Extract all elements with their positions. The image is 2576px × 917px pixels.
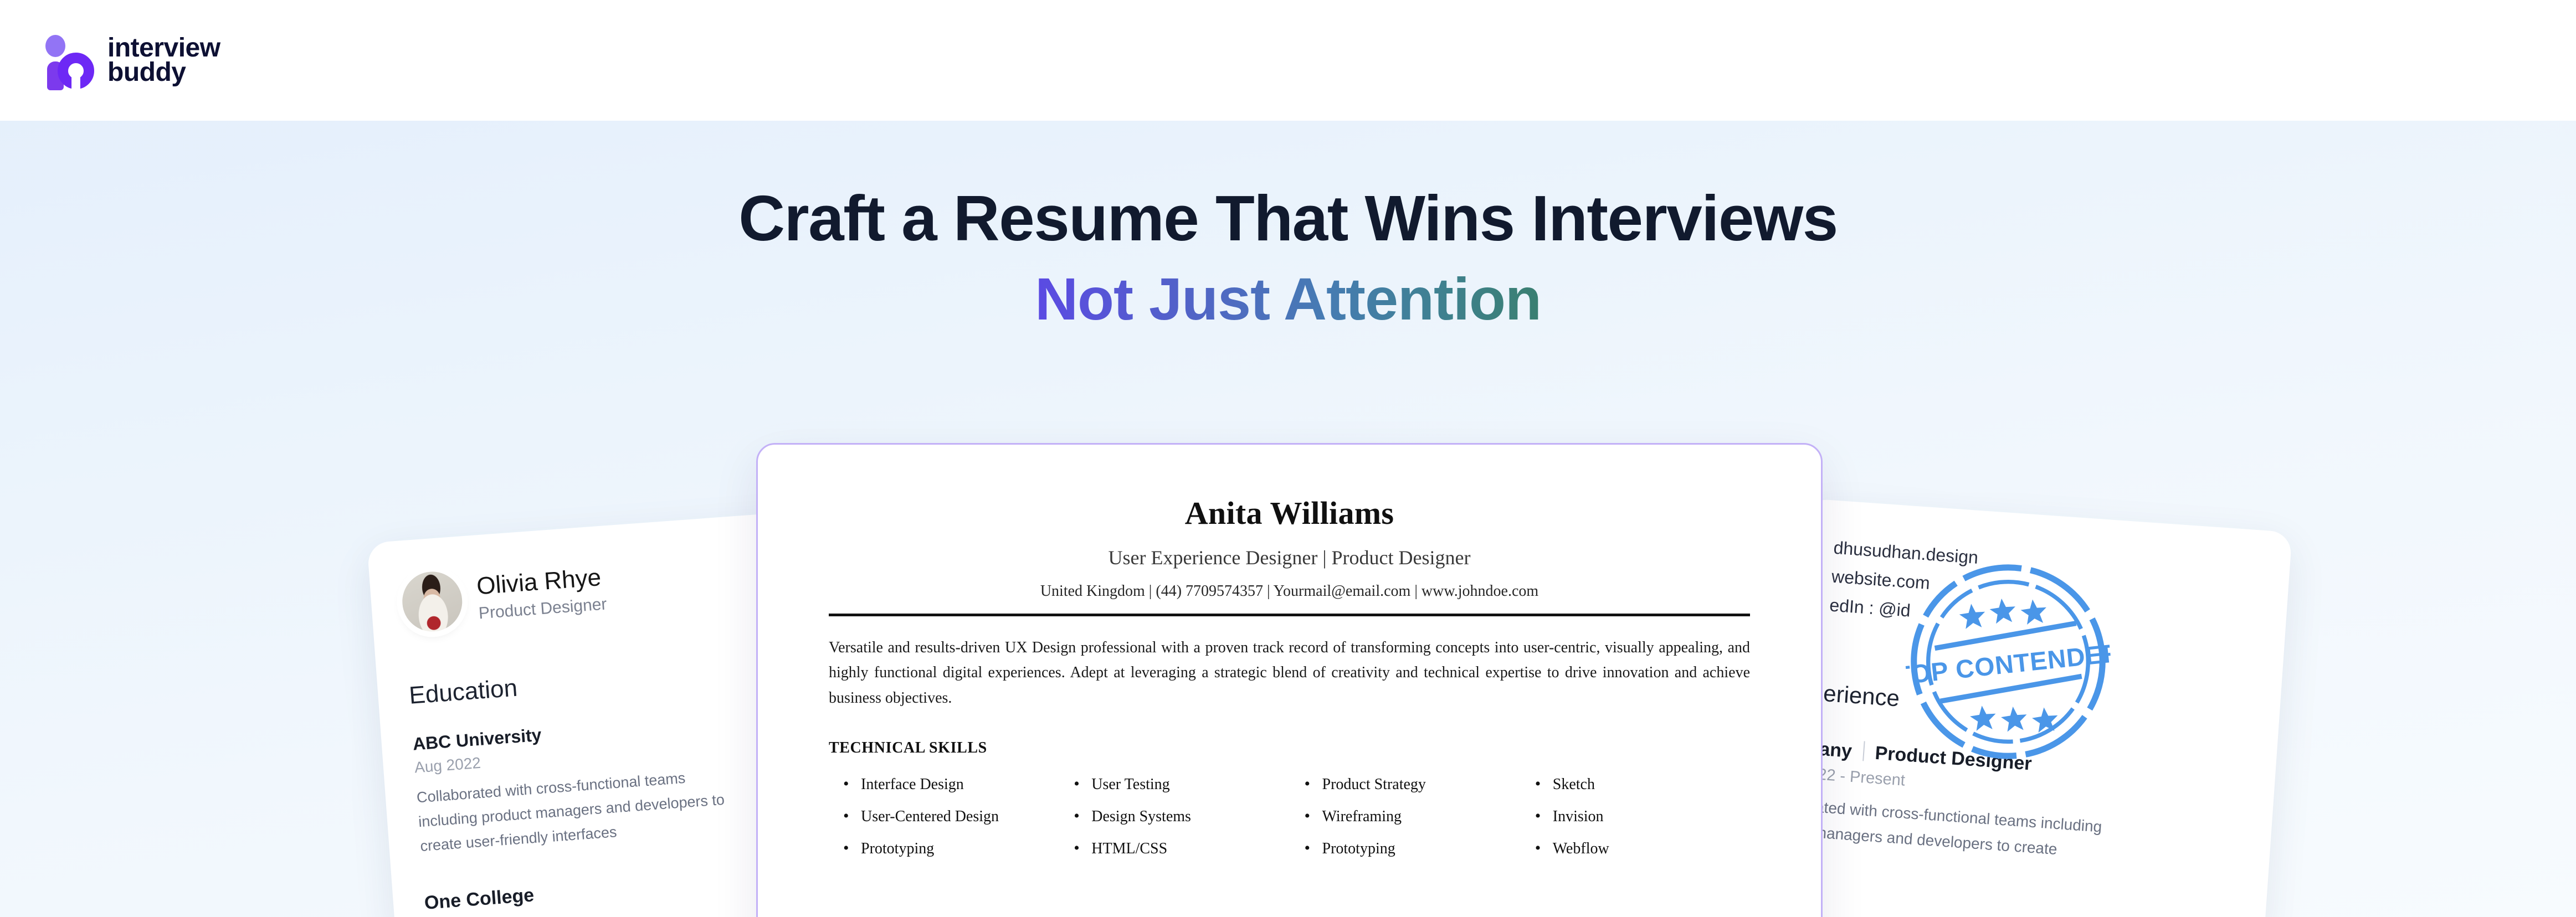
- cv-skill-item: Sketch: [1535, 776, 1750, 794]
- avatar: [400, 570, 464, 634]
- cv-skill-item: Interface Design: [843, 776, 1058, 794]
- right-card-job-divider: [1862, 741, 1865, 761]
- logo-b-bowl-shape: [58, 53, 94, 89]
- left-card-profile: Olivia Rhye Product Designer: [400, 545, 801, 633]
- hero-heading-block: Craft a Resume That Wins Interviews Not …: [0, 183, 2576, 333]
- site-header: interview buddy: [0, 0, 2576, 121]
- left-card-name: Olivia Rhye: [476, 564, 606, 600]
- resume-cards-group: Olivia Rhye Product Designer Education A…: [0, 0, 2576, 917]
- logo-dot-shape: [45, 35, 65, 57]
- left-card-profile-text: Olivia Rhye Product Designer: [476, 564, 608, 623]
- cv-divider: [829, 614, 1750, 616]
- hero-subheadline: Not Just Attention: [1035, 266, 1541, 333]
- right-card-job-company: any: [1819, 739, 1853, 763]
- cv-skills-grid: Interface Design User Testing Product St…: [829, 776, 1750, 858]
- cv-skill-item: Prototyping: [1305, 840, 1520, 858]
- cv-skill-item: Design Systems: [1074, 808, 1289, 826]
- cv-skill-item: User Testing: [1074, 776, 1289, 794]
- cv-skills-heading: TECHNICAL SKILLS: [829, 739, 1750, 757]
- left-card-section-title: Education: [408, 653, 807, 709]
- cv-role: User Experience Designer | Product Desig…: [829, 546, 1750, 569]
- cv-skill-item: Product Strategy: [1305, 776, 1520, 794]
- resume-card-center[interactable]: Anita Williams User Experience Designer …: [756, 443, 1823, 917]
- brand-wordmark: interview buddy: [107, 36, 220, 85]
- cv-skill-item: Invision: [1535, 808, 1750, 826]
- cv-skill-item: Webflow: [1535, 840, 1750, 858]
- cv-name: Anita Williams: [829, 494, 1750, 532]
- cv-skill-item: User-Centered Design: [843, 808, 1058, 826]
- brand-wordmark-line1: interview: [107, 36, 220, 60]
- brand-wordmark-line2: buddy: [107, 60, 220, 85]
- cv-skill-item: Prototyping: [843, 840, 1058, 858]
- left-card-role: Product Designer: [478, 595, 608, 624]
- cv-summary: Versatile and results-driven UX Design p…: [829, 635, 1750, 710]
- brand-logo[interactable]: interview buddy: [38, 32, 220, 89]
- interviewbuddy-logo-icon: [38, 32, 95, 89]
- top-contender-stamp-icon: TOP CONTENDER: [1896, 549, 2121, 775]
- hero-headline: Craft a Resume That Wins Interviews: [0, 183, 2576, 255]
- cv-skill-item: Wireframing: [1305, 808, 1520, 826]
- page-background: interview buddy Craft a Resume That Wins…: [0, 0, 2576, 917]
- cv-contact: United Kingdom | (44) 7709574357 | Yourm…: [829, 583, 1750, 600]
- cv-skill-item: HTML/CSS: [1074, 840, 1289, 858]
